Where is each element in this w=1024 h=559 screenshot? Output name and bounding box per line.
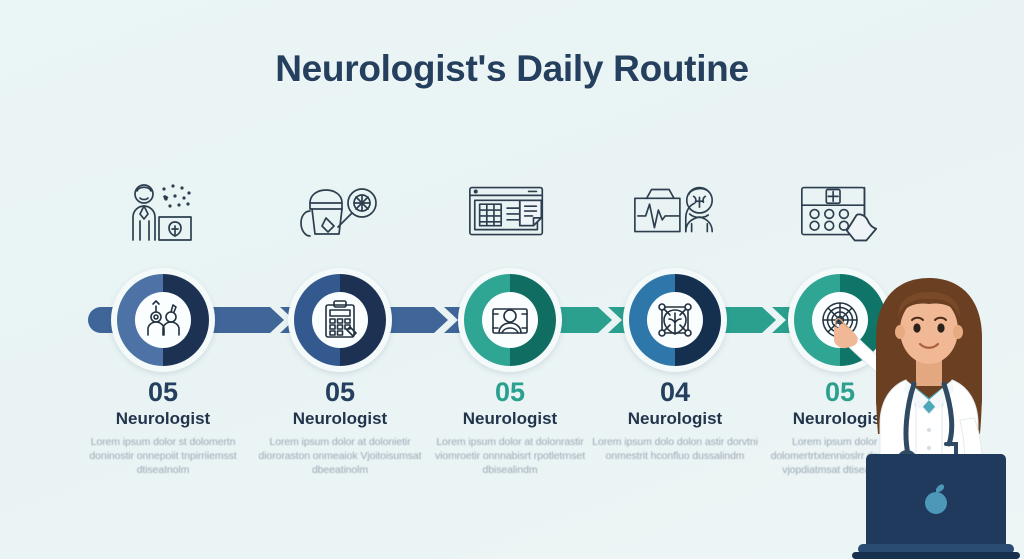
ekg-monitor-patient-icon [629,176,721,250]
step-label: Neurologist [417,410,603,429]
step-text-2: 05 Neurologist Lorem ipsum dolor at dolo… [247,378,433,478]
clipboard-calculator-icon [312,292,368,348]
step-node-3[interactable] [458,268,562,372]
person-in-frame-icon [482,292,538,348]
doctor-presenting-brain-icon [117,176,209,250]
step-column-2[interactable]: 05 Neurologist Lorem ipsum dolor at dolo… [245,0,435,559]
step-number: 05 [70,378,256,406]
medical-calendar-hand-icon [794,176,886,250]
neural-network-icon [647,292,703,348]
step-text-1: 05 Neurologist Lorem ipsum dolor st dolo… [70,378,256,478]
step-column-1[interactable]: 05 Neurologist Lorem ipsum dolor st dolo… [68,0,258,559]
step-label: Neurologist [247,410,433,429]
step-text-3: 05 Neurologist Lorem ipsum dolor at dolo… [417,378,603,478]
laptop [852,454,1020,559]
step-node-1[interactable] [111,268,215,372]
step-label: Neurologist [582,410,768,429]
step-number: 05 [247,378,433,406]
step-node-2[interactable] [288,268,392,372]
step-text-4: 04 Neurologist Lorem ipsum dolo dolon as… [582,378,768,464]
step-body: Lorem ipsum dolor at dolonietir diororas… [247,436,433,478]
female-doctor-with-laptop-illustration [834,268,1024,559]
step-body: Lorem ipsum dolo dolon astir dorvtni onm… [582,436,768,464]
two-people-icon [135,292,191,348]
step-column-4[interactable]: 04 Neurologist Lorem ipsum dolo dolon as… [580,0,770,559]
step-number: 05 [417,378,603,406]
step-body: Lorem ipsum dolor st dolomertn doninosti… [70,436,256,478]
magnifier-brain-scan-icon [294,176,386,250]
step-label: Neurologist [70,410,256,429]
step-body: Lorem ipsum dolor at dolonrastir viomroe… [417,436,603,478]
document-window-table-icon [464,176,556,250]
step-column-3[interactable]: 05 Neurologist Lorem ipsum dolor at dolo… [415,0,605,559]
step-number: 04 [582,378,768,406]
step-node-4[interactable] [623,268,727,372]
infographic-canvas: Neurologist's Daily Routine [0,0,1024,559]
